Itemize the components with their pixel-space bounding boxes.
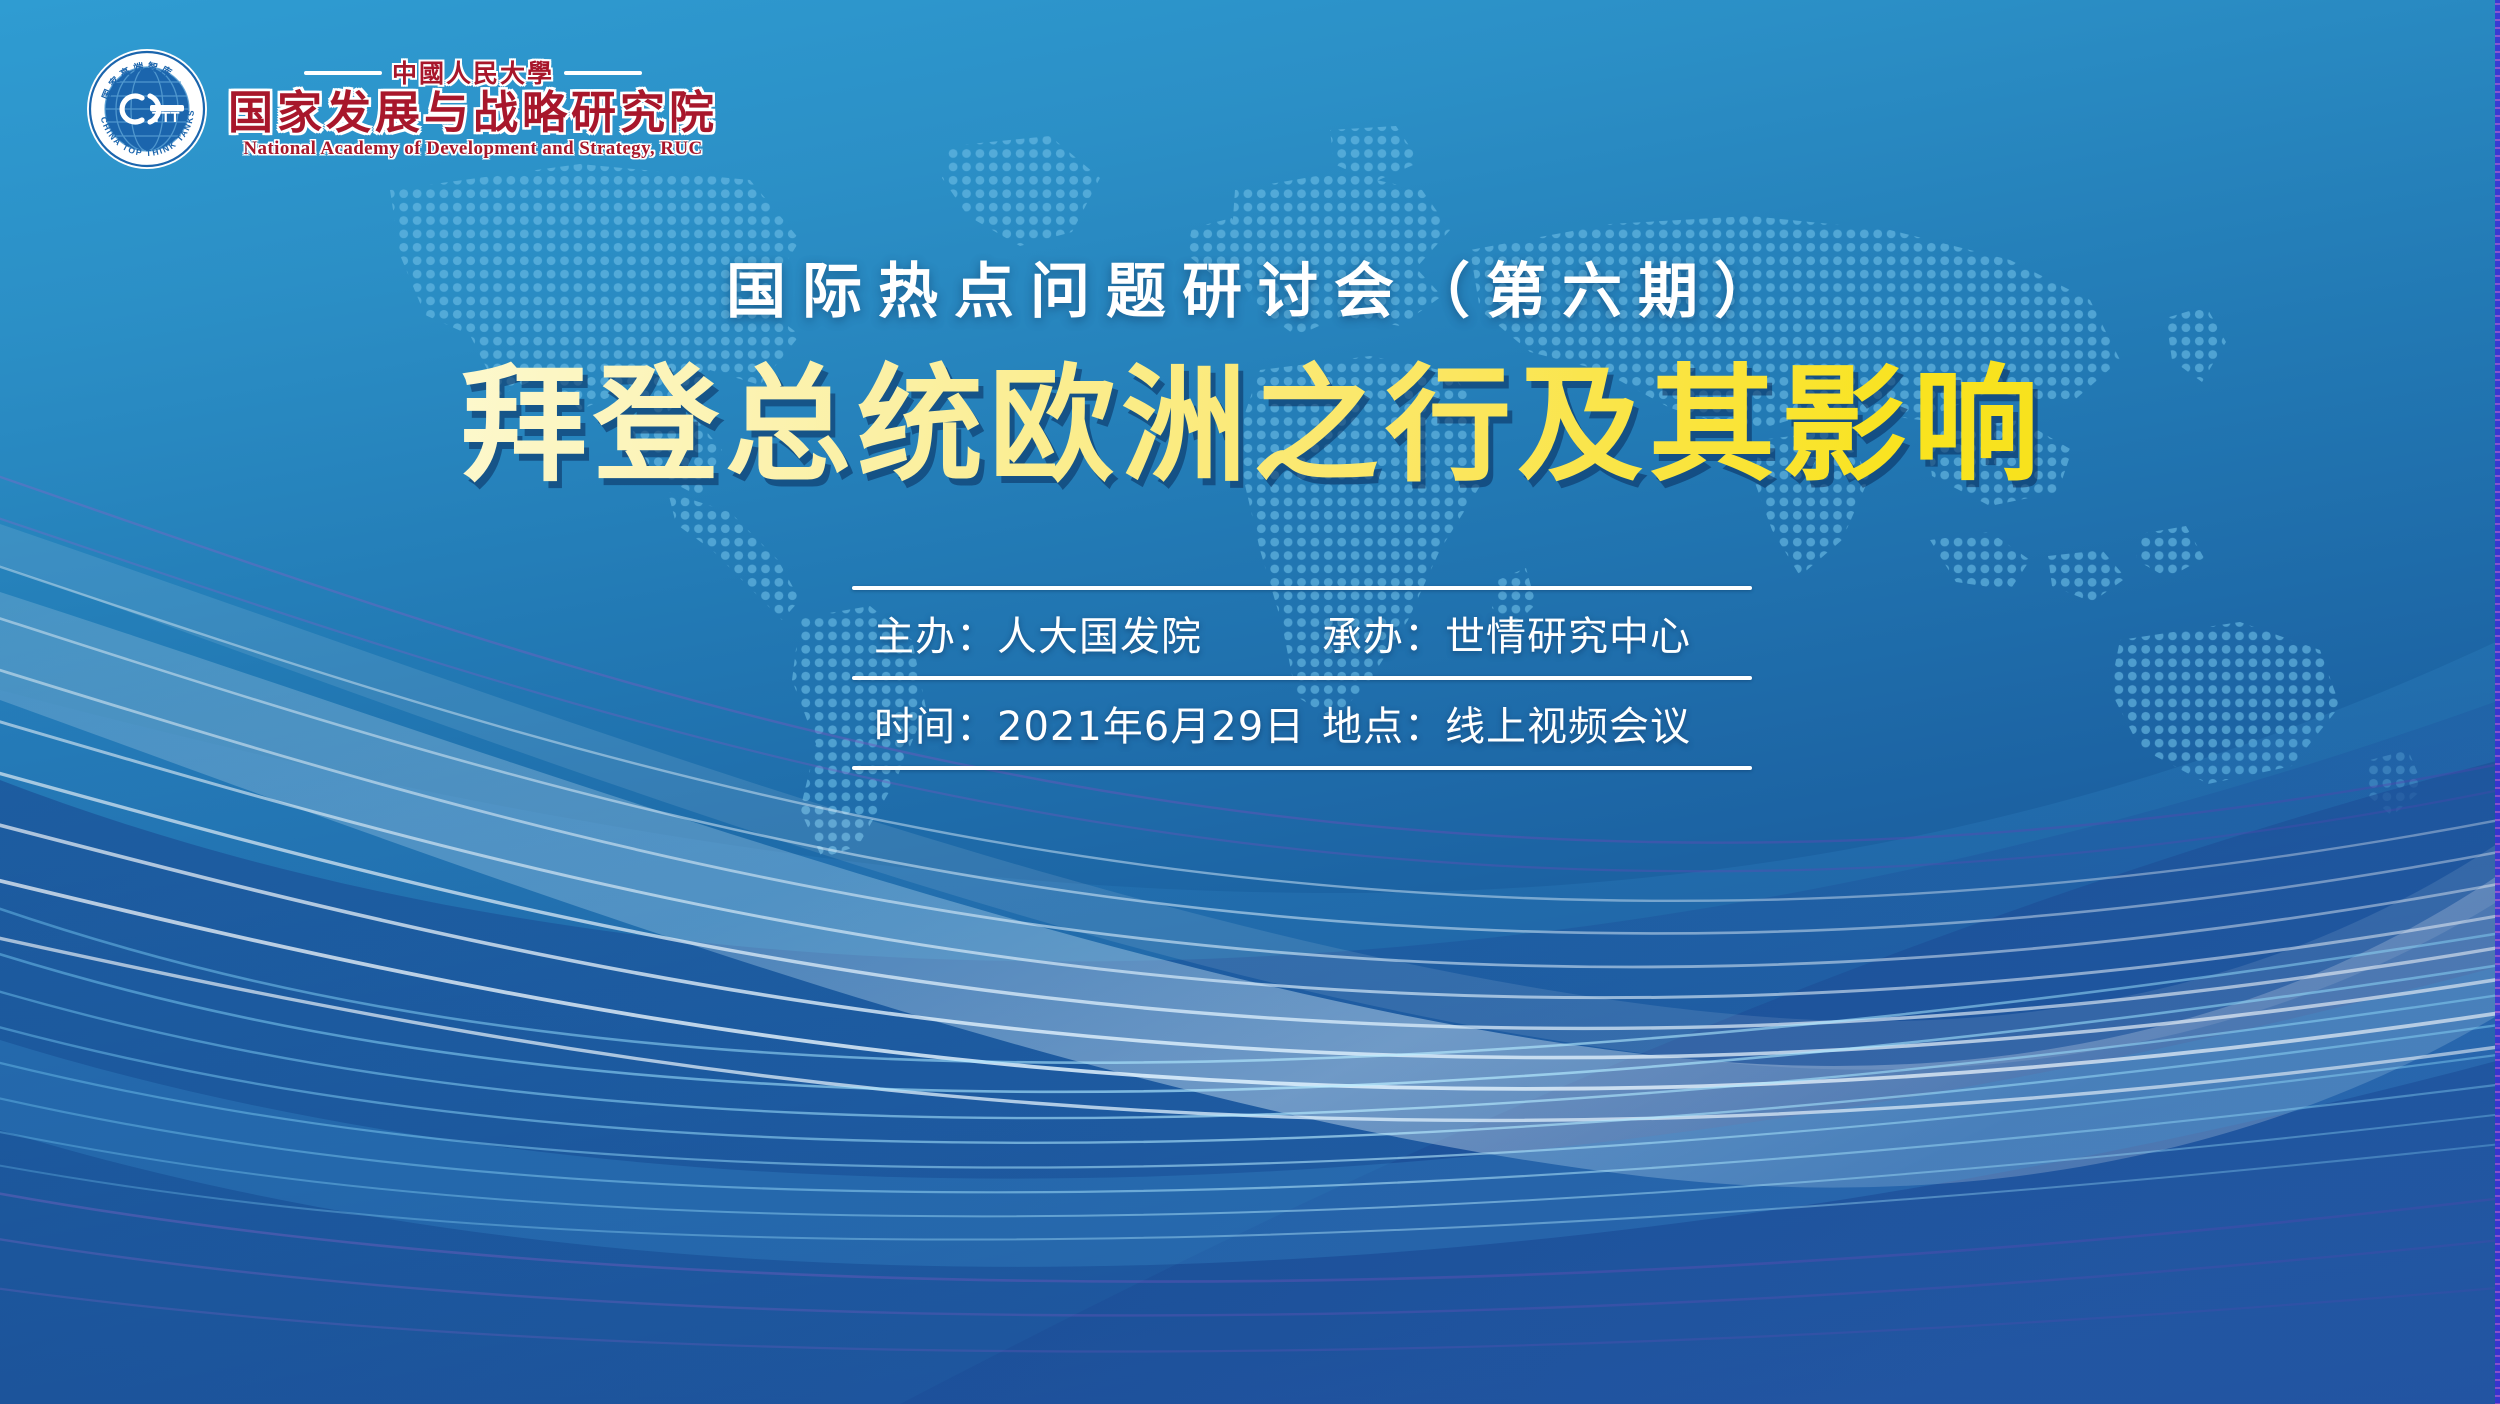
host-label: 主办：人大国发院 (852, 604, 1322, 662)
time-label: 时间：2021年6月29日 (852, 694, 1322, 752)
detail-row-time-place: 时间：2021年6月29日 地点：线上视频会议 (852, 680, 1752, 766)
right-edge-artifact (2495, 0, 2500, 1404)
organizer-label: 承办：世情研究中心 (1322, 604, 1691, 662)
divider-bottom (852, 766, 1752, 770)
poster-canvas: TTT 国家高端智库 CHINA TOP THINK TANKS 中國人民大學 … (0, 0, 2500, 1404)
venue-label: 地点：线上视频会议 (1322, 694, 1691, 752)
event-details: 主办：人大国发院 承办：世情研究中心 时间：2021年6月29日 地点：线上视频… (852, 586, 1752, 770)
series-title: 国际热点问题研讨会（第六期） (0, 262, 2500, 322)
title-block: 国际热点问题研讨会（第六期） 拜登总统欧洲之行及其影响 (0, 0, 2500, 494)
main-title: 拜登总统欧洲之行及其影响 (0, 358, 2500, 494)
detail-row-organizers: 主办：人大国发院 承办：世情研究中心 (852, 590, 1752, 676)
